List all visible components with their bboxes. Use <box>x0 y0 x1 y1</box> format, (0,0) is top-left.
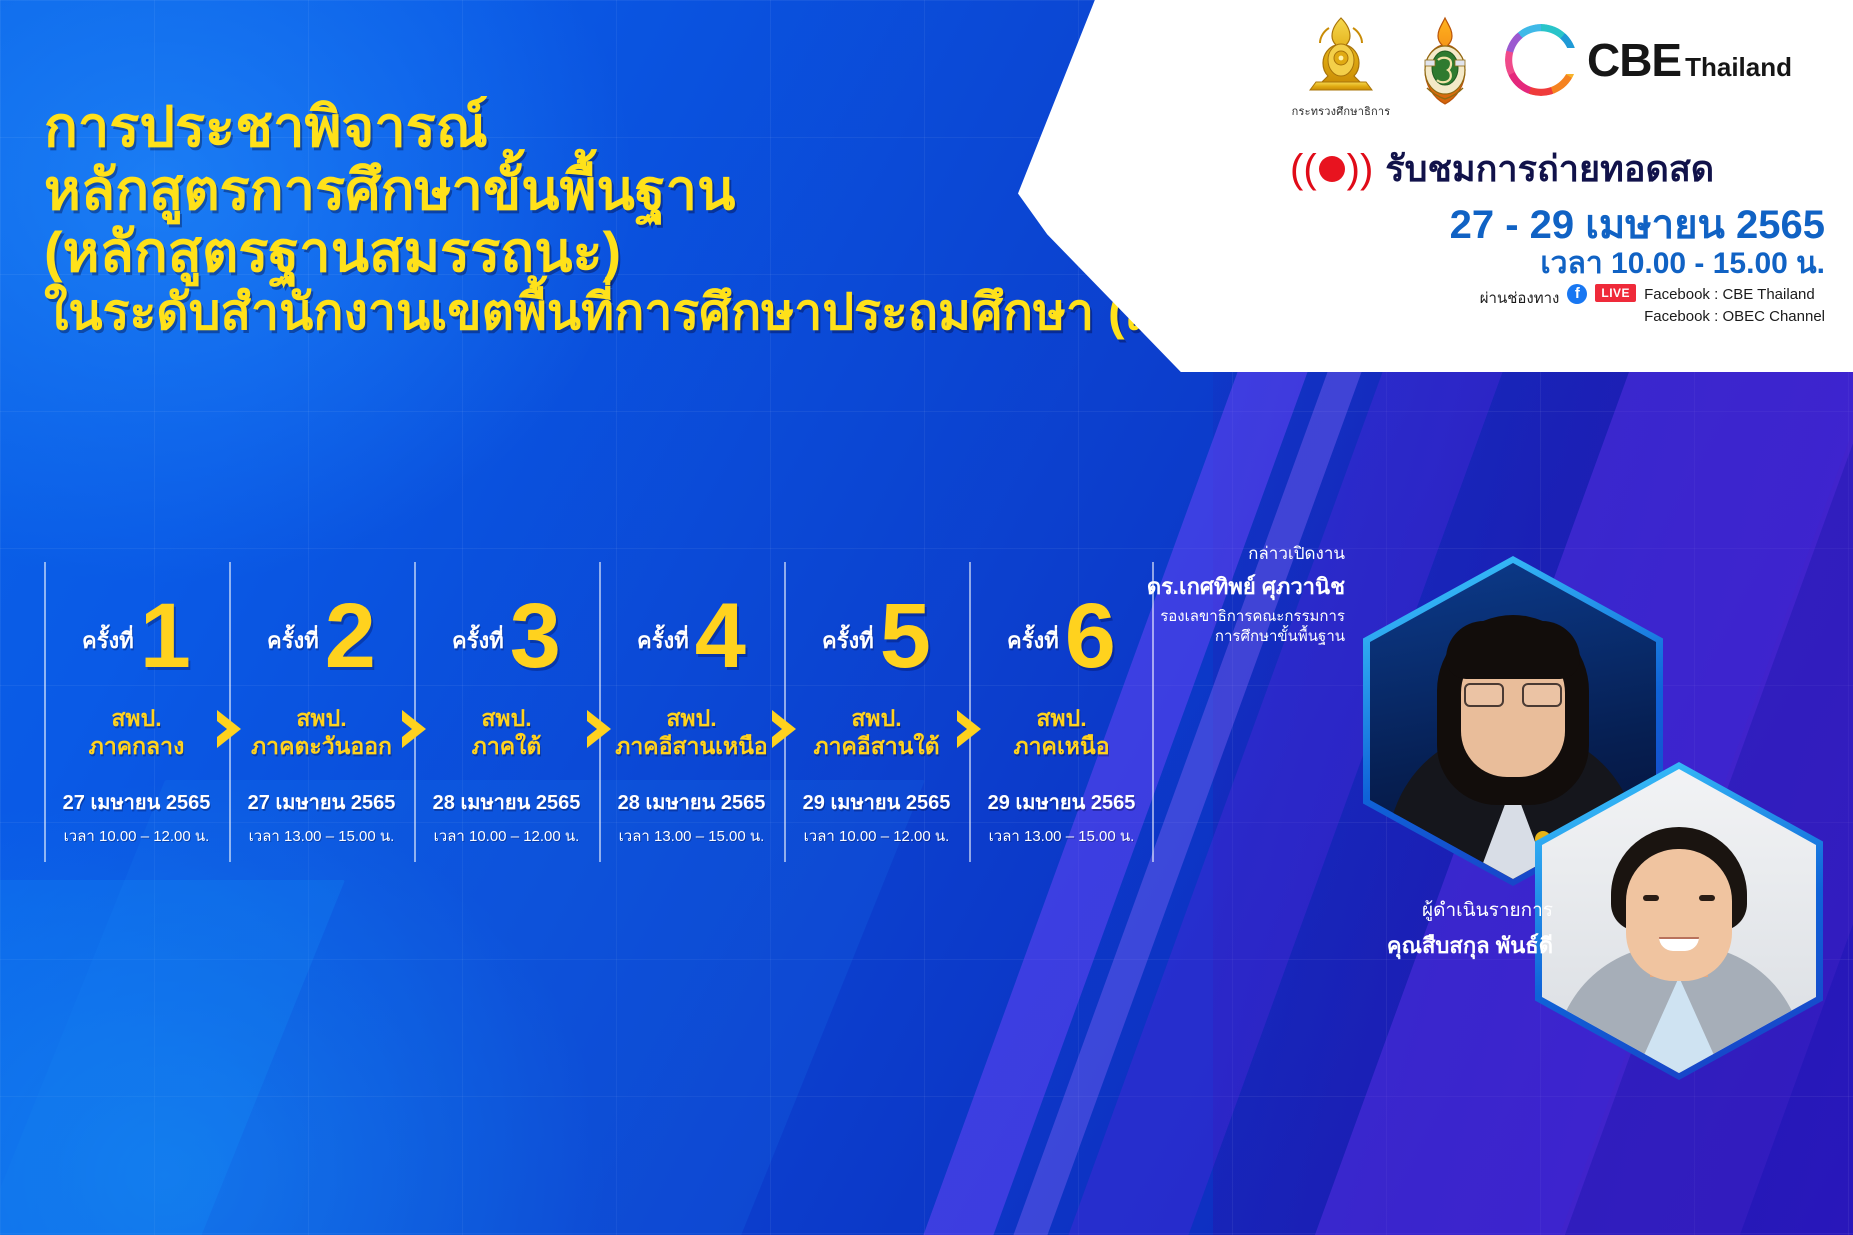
chevron-right-icon <box>767 708 801 750</box>
session-office-label: สพป. <box>1036 705 1086 731</box>
host-name: คุณสืบสกุล พันธ์ดี <box>1223 928 1553 963</box>
opening-speaker-position: รองเลขาธิการคณะกรรมการ การศึกษาขั้นพื้นฐ… <box>1005 607 1345 648</box>
cbe-wordmark: CBEThailand <box>1587 33 1792 87</box>
session-time: เวลา 10.00 – 12.00 น. <box>804 824 950 848</box>
session-time: เวลา 13.00 – 15.00 น. <box>249 824 395 848</box>
session-prefix-label: ครั้งที่ <box>267 623 319 674</box>
session-date: 28 เมษายน 2565 <box>618 786 766 818</box>
session-heading: ครั้งที่ 4 <box>637 564 746 674</box>
chevron-right-icon <box>212 708 246 750</box>
session-prefix-label: ครั้งที่ <box>82 623 134 674</box>
session-region: สพป. ภาคใต้ <box>472 704 542 760</box>
timeline-session-3: ครั้งที่ 3 สพป. ภาคใต้ 28 เมษายน 2565 เว… <box>414 556 599 868</box>
session-number: 1 <box>140 599 191 674</box>
opening-speaker-role: กล่าวเปิดงาน <box>1005 540 1345 567</box>
session-region: สพป. ภาคกลาง <box>89 704 185 760</box>
session-time: เวลา 13.00 – 15.00 น. <box>619 824 765 848</box>
session-region-label: ภาคกลาง <box>89 733 185 759</box>
chevron-right-icon <box>397 708 431 750</box>
title-line-4: ในระดับสำนักงานเขตพื้นที่การศึกษาประถมศึ… <box>44 284 1250 340</box>
timeline-divider <box>44 562 46 862</box>
session-office-label: สพป. <box>666 705 716 731</box>
live-broadcast-row: (()) รับชมการถ่ายทอดสด <box>1290 140 1714 197</box>
obec-emblem-icon <box>1407 16 1483 112</box>
moe-logo-label: กระทรวงศึกษาธิการ <box>1292 102 1391 120</box>
session-region-label: ภาคใต้ <box>472 733 542 759</box>
session-number: 3 <box>510 599 561 674</box>
session-region-label: ภาคอีสานใต้ <box>813 733 939 759</box>
session-region-label: ภาคอีสานเหนือ <box>615 733 768 759</box>
live-broadcast-icon: (()) <box>1290 149 1373 189</box>
session-region-label: ภาคตะวันออก <box>251 733 392 759</box>
session-prefix-label: ครั้งที่ <box>822 623 874 674</box>
timeline-session-1: ครั้งที่ 1 สพป. ภาคกลาง 27 เมษายน 2565 เ… <box>44 556 229 868</box>
session-time: เวลา 13.00 – 15.00 น. <box>989 824 1135 848</box>
session-time: เวลา 10.00 – 12.00 น. <box>64 824 210 848</box>
channel-names: Facebook : CBE Thailand Facebook : OBEC … <box>1644 284 1825 328</box>
timeline-session-2: ครั้งที่ 2 สพป. ภาคตะวันออก 27 เมษายน 25… <box>229 556 414 868</box>
session-heading: ครั้งที่ 5 <box>822 564 931 674</box>
session-prefix-label: ครั้งที่ <box>452 623 504 674</box>
channel-row: ผ่านช่องทาง f LIVE Facebook : CBE Thaila… <box>1480 284 1825 328</box>
session-heading: ครั้งที่ 2 <box>267 564 376 674</box>
session-time: เวลา 10.00 – 12.00 น. <box>434 824 580 848</box>
session-office-label: สพป. <box>111 705 161 731</box>
cbe-wordmark-main: CBE <box>1587 34 1681 86</box>
header-panel: กระทรวงศึกษาธิการ <box>1018 0 1853 372</box>
session-heading: ครั้งที่ 1 <box>82 564 191 674</box>
chevron-right-icon <box>582 708 616 750</box>
session-date: 29 เมษายน 2565 <box>988 786 1136 818</box>
session-date: 27 เมษายน 2565 <box>63 786 211 818</box>
session-region: สพป. ภาคตะวันออก <box>251 704 392 760</box>
session-office-label: สพป. <box>481 705 531 731</box>
opening-speaker-credit: กล่าวเปิดงาน ดร.เกศทิพย์ ศุภวานิช รองเลข… <box>1005 540 1345 648</box>
session-region-label: ภาคเหนือ <box>1013 733 1109 759</box>
session-date: 29 เมษายน 2565 <box>803 786 951 818</box>
facebook-icon[interactable]: f <box>1567 284 1587 304</box>
session-region: สพป. ภาคเหนือ <box>1013 704 1109 760</box>
cbe-wordmark-sub: Thailand <box>1685 52 1792 82</box>
session-number: 2 <box>325 599 376 674</box>
session-office-label: สพป. <box>851 705 901 731</box>
ministry-of-education-logo: กระทรวงศึกษาธิการ <box>1297 16 1385 120</box>
timeline-session-4: ครั้งที่ 4 สพป. ภาคอีสานเหนือ 28 เมษายน … <box>599 556 784 868</box>
session-timeline: ครั้งที่ 1 สพป. ภาคกลาง 27 เมษายน 2565 เ… <box>44 556 1154 868</box>
session-heading: ครั้งที่ 3 <box>452 564 561 674</box>
session-date: 28 เมษายน 2565 <box>433 786 581 818</box>
session-office-label: สพป. <box>296 705 346 731</box>
host-role: ผู้ดำเนินรายการ <box>1223 895 1553 925</box>
chevron-right-icon <box>952 708 986 750</box>
session-region: สพป. ภาคอีสานใต้ <box>813 704 939 760</box>
host-credit: ผู้ดำเนินรายการ คุณสืบสกุล พันธ์ดี <box>1223 895 1553 963</box>
cbe-thailand-logo: CBEThailand <box>1505 24 1792 96</box>
logo-row: กระทรวงศึกษาธิการ <box>1018 16 1841 132</box>
header-time-range: เวลา 10.00 - 15.00 น. <box>1540 240 1825 287</box>
opening-speaker-name: ดร.เกศทิพย์ ศุภวานิช <box>1005 569 1345 604</box>
channel-prefix-label: ผ่านช่องทาง <box>1480 284 1560 310</box>
cbe-color-ring-icon <box>1505 24 1577 96</box>
moe-emblem-icon <box>1302 16 1380 100</box>
session-region: สพป. ภาคอีสานเหนือ <box>615 704 768 760</box>
timeline-session-5: ครั้งที่ 5 สพป. ภาคอีสานใต้ 29 เมษายน 25… <box>784 556 969 868</box>
session-number: 5 <box>880 599 931 674</box>
live-badge: LIVE <box>1595 284 1636 302</box>
session-prefix-label: ครั้งที่ <box>637 623 689 674</box>
session-number: 4 <box>695 599 746 674</box>
live-broadcast-title: รับชมการถ่ายทอดสด <box>1385 140 1714 197</box>
session-date: 27 เมษายน 2565 <box>248 786 396 818</box>
